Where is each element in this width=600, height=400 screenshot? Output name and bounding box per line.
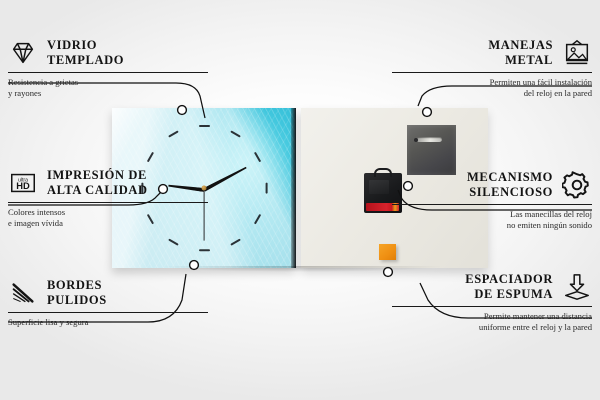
feature-title-line1: MECANISMO (467, 170, 553, 184)
feature-header: VIDRIO TEMPLADO (8, 38, 208, 68)
mechanism-housing-detail (369, 180, 389, 194)
feature-desc-line2: del reloj en la pared (392, 88, 592, 99)
feature-header: MECANISMO SILENCIOSO (392, 170, 592, 200)
feature-divider (392, 72, 592, 73)
gear-icon (562, 170, 592, 200)
mechanism-hanging-loop (374, 168, 392, 177)
feature-vidrio-templado: VIDRIO TEMPLADO Resistencia a grietas y … (8, 38, 208, 100)
feature-title-line2: TEMPLADO (47, 53, 124, 68)
hanger-slot (416, 137, 442, 142)
clock-tick (230, 131, 241, 138)
feature-title-line1: VIDRIO (47, 38, 97, 52)
feature-divider (392, 204, 592, 205)
feature-title: ESPACIADOR DE ESPUMA (465, 272, 553, 302)
feature-desc-line1: Las manecillas del reloj (510, 209, 592, 219)
picture-hanger-icon (562, 38, 592, 68)
feature-title-line1: MANEJAS (488, 38, 553, 52)
clock-minute-hand (203, 166, 247, 192)
metal-hanger-plate (407, 125, 456, 175)
feature-title-line2: DE ESPUMA (465, 287, 553, 302)
feature-divider (8, 312, 208, 313)
clock-tick (199, 249, 210, 251)
feature-desc-line1: Superficie lisa y segura (8, 317, 88, 327)
ultra-hd-icon-main-label: HD (16, 181, 30, 191)
feature-description: Las manecillas del reloj no emiten ningú… (392, 209, 592, 232)
infographic-stage: VIDRIO TEMPLADO Resistencia a grietas y … (0, 0, 600, 400)
foam-spacer-pad (379, 244, 396, 260)
feature-desc-line2: y rayones (8, 88, 208, 99)
clock-tick (147, 152, 154, 163)
feature-header: ESPACIADOR DE ESPUMA (392, 272, 592, 302)
feature-title-line1: ESPACIADOR (465, 272, 553, 286)
feature-title: VIDRIO TEMPLADO (47, 38, 124, 68)
feature-bordes-pulidos: BORDES PULIDOS Superficie lisa y segura (8, 278, 208, 328)
feature-header: BORDES PULIDOS (8, 278, 208, 308)
feature-desc-line1: Permite mantener una distancia (484, 311, 592, 321)
feature-title: IMPRESIÓN DE ALTA CALIDAD (47, 168, 148, 198)
clock-tick (254, 152, 261, 163)
feature-header: MANEJAS METAL (392, 38, 592, 68)
ultra-hd-icon: ultra HD (8, 168, 38, 198)
feature-description: Permite mantener una distancia uniforme … (392, 311, 592, 334)
feature-divider (8, 72, 208, 73)
feature-title: BORDES PULIDOS (47, 278, 107, 308)
clock-tick (254, 214, 261, 225)
feature-desc-line1: Resistencia a grietas (8, 77, 78, 87)
feature-desc-line1: Permiten una fácil instalación (490, 77, 592, 87)
feature-title-line2: PULIDOS (47, 293, 107, 308)
feature-mecanismo-silencioso: MECANISMO SILENCIOSO Las manecillas del … (392, 170, 592, 232)
feature-desc-line2: no emiten ningún sonido (392, 220, 592, 231)
clock-tick (199, 125, 210, 127)
feature-header: ultra HD IMPRESIÓN DE ALTA CALIDAD (8, 168, 208, 198)
feature-impresion-alta-calidad: ultra HD IMPRESIÓN DE ALTA CALIDAD Color… (8, 168, 208, 230)
diamond-icon (8, 38, 38, 68)
feature-title: MANEJAS METAL (488, 38, 553, 68)
feature-title-line2: METAL (488, 53, 553, 68)
feature-espaciador-espuma: ESPACIADOR DE ESPUMA Permite mantener un… (392, 272, 592, 334)
foam-spacer-icon (562, 272, 592, 302)
clock-tick (230, 238, 241, 245)
feature-description: Permiten una fácil instalación del reloj… (392, 77, 592, 100)
feature-desc-line2: uniforme entre el reloj y la pared (392, 322, 592, 333)
clock-tick (168, 238, 179, 245)
feature-manejas-metal: MANEJAS METAL Permiten una fácil instala… (392, 38, 592, 100)
feature-title-line1: BORDES (47, 278, 102, 292)
feature-title-line1: IMPRESIÓN DE (47, 168, 147, 182)
feature-divider (8, 202, 208, 203)
polished-edges-icon (8, 278, 38, 308)
clock-tick (168, 131, 179, 138)
feature-title: MECANISMO SILENCIOSO (467, 170, 553, 200)
hanger-hole (414, 138, 418, 142)
feature-desc-line2: e imagen vívida (8, 218, 208, 229)
feature-description: Colores intensos e imagen vívida (8, 207, 208, 230)
feature-divider (392, 306, 592, 307)
feature-title-line2: SILENCIOSO (467, 185, 553, 200)
feature-description: Superficie lisa y segura (8, 317, 208, 328)
feature-title-line2: ALTA CALIDAD (47, 183, 148, 198)
feature-description: Resistencia a grietas y rayones (8, 77, 208, 100)
feature-desc-line1: Colores intensos (8, 207, 65, 217)
clock-tick (265, 182, 267, 193)
